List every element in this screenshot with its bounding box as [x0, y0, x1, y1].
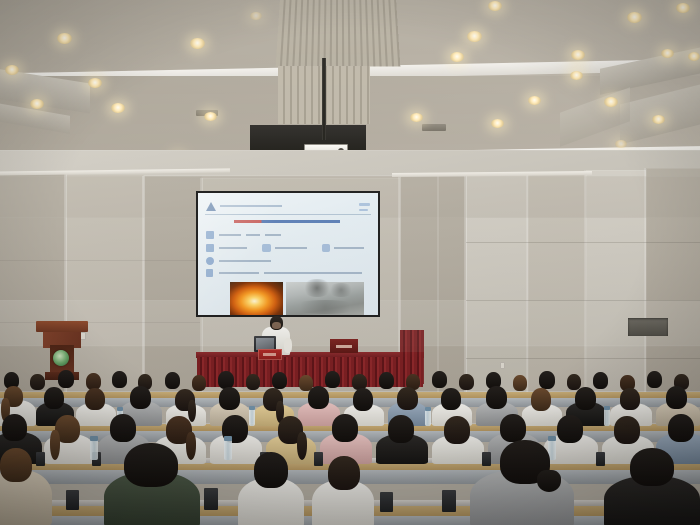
- downlight: [467, 31, 482, 42]
- lecture-hall-photo: [0, 0, 700, 525]
- slide-title: [234, 220, 340, 223]
- audience-bun: [537, 470, 561, 492]
- audience-head: [379, 372, 394, 389]
- audience-head: [397, 387, 418, 410]
- downlight: [250, 12, 262, 20]
- wall-seam-h: [466, 300, 700, 301]
- audience-head: [531, 388, 551, 411]
- seat-arm-foreground: [380, 492, 393, 512]
- water-bottle: [604, 409, 610, 426]
- audience-head: [30, 374, 45, 390]
- wall-seam: [142, 176, 145, 402]
- slide-row-label: [206, 269, 213, 277]
- secondary-card-glow: [336, 345, 352, 348]
- wall-seam: [464, 174, 467, 402]
- audience-head: [254, 452, 288, 488]
- downlight: [450, 52, 464, 62]
- audience-head: [593, 372, 608, 389]
- seat-arm: [314, 452, 323, 466]
- audience-head: [325, 371, 340, 388]
- wall-seam: [644, 168, 646, 402]
- audience-head: [332, 414, 358, 442]
- audience-head-foreground: [124, 443, 178, 487]
- downlight: [30, 99, 44, 109]
- audience-head: [620, 388, 640, 410]
- audience-ponytail: [186, 432, 196, 460]
- bottle-cap: [90, 436, 98, 441]
- podium-emblem: [53, 350, 69, 366]
- seat-arm-foreground: [204, 488, 218, 510]
- audience-head: [44, 387, 64, 409]
- presenter-face: [272, 322, 281, 329]
- bottle-cap: [117, 407, 123, 411]
- audience-head: [557, 415, 583, 443]
- seat-arm-foreground: [442, 490, 456, 512]
- slide-photo-aftermath: [286, 282, 364, 315]
- slide-row-text: [219, 272, 259, 274]
- wall-seam-h: [0, 260, 200, 261]
- downlight: [652, 115, 665, 124]
- audience-head: [328, 456, 360, 490]
- slide-corner-mark: [359, 209, 368, 211]
- water-bottle: [224, 440, 232, 460]
- wall-outlet-plate: [500, 362, 505, 369]
- slide-row-label: [206, 244, 214, 252]
- slide-item-icon: [322, 244, 330, 252]
- bottle-cap: [548, 436, 556, 441]
- smoke-plume: [328, 283, 354, 297]
- audience-head: [432, 371, 447, 388]
- audience-head: [500, 414, 526, 442]
- audience-head: [85, 388, 105, 410]
- audience-head: [192, 375, 206, 391]
- bottle-cap: [224, 436, 232, 441]
- audience-head: [444, 416, 470, 444]
- slide-item-text: [219, 247, 247, 249]
- audience-head: [353, 388, 373, 411]
- downlight: [111, 103, 125, 113]
- downlight: [571, 50, 585, 60]
- audience-head: [575, 387, 596, 410]
- audience-head: [630, 448, 674, 486]
- presentation-slide: [198, 193, 378, 315]
- downlight: [688, 52, 700, 61]
- slide-row-text: [264, 272, 362, 274]
- audience-ponytail: [297, 432, 307, 460]
- bottle-cap: [425, 407, 431, 411]
- audience-head: [666, 386, 687, 409]
- audience-head: [165, 372, 180, 389]
- downlight: [615, 140, 627, 148]
- slide-row-text: [265, 234, 281, 236]
- audience-head: [130, 386, 151, 409]
- audience-head: [513, 375, 527, 391]
- audience-head: [668, 414, 694, 442]
- seat-arm: [596, 452, 605, 466]
- name-card-text: [263, 353, 276, 356]
- audience-head: [308, 386, 329, 409]
- downlight: [488, 1, 502, 11]
- slide-row-bullet: [206, 257, 214, 265]
- audience-head: [647, 371, 662, 388]
- wall-seam: [584, 170, 586, 402]
- ceiling-vent-right: [422, 124, 446, 131]
- downlight: [676, 3, 690, 13]
- audience-head: [388, 415, 414, 443]
- downlight: [604, 97, 618, 107]
- audience-head: [110, 414, 136, 442]
- audience-head: [539, 371, 555, 389]
- downlight: [204, 112, 217, 121]
- downlight: [410, 113, 423, 122]
- downlight: [528, 96, 541, 105]
- downlight: [5, 65, 19, 75]
- downlight: [190, 38, 205, 49]
- downlight: [627, 12, 642, 23]
- water-bottle: [425, 410, 431, 426]
- slide-item-text: [275, 247, 307, 249]
- audience-head: [58, 370, 74, 388]
- audience-head: [459, 374, 474, 390]
- wall-air-grille: [628, 318, 668, 336]
- projection-screen[interactable]: [196, 191, 380, 317]
- slide-row-label: [206, 231, 214, 239]
- audience-head: [219, 387, 240, 410]
- wall-seam-h: [466, 358, 700, 359]
- podium-top: [36, 321, 88, 332]
- downlight: [570, 71, 583, 80]
- audience-head: [2, 414, 27, 441]
- audience-head: [272, 372, 287, 389]
- seat-arm: [36, 452, 45, 466]
- slide-photo-explosion: [230, 282, 283, 315]
- audience-head: [441, 388, 461, 410]
- downlight: [88, 78, 102, 88]
- wall-seam: [526, 172, 528, 402]
- audience-ponytail: [188, 400, 196, 422]
- downlight: [661, 49, 674, 58]
- audience-head: [112, 371, 127, 388]
- downlight: [491, 119, 504, 128]
- slide-header-rule: [205, 214, 371, 215]
- audience-head: [246, 374, 260, 390]
- water-bottle: [90, 440, 98, 460]
- wall-seam-h: [466, 242, 700, 243]
- bottle-cap: [604, 406, 610, 410]
- slide-corner-mark: [359, 203, 370, 206]
- audience-head: [486, 386, 507, 409]
- slide-row-text: [246, 234, 260, 236]
- audience-head: [614, 416, 640, 444]
- wall-seam-h: [0, 322, 200, 323]
- slide-row-text: [219, 234, 241, 236]
- debris-field: [290, 300, 360, 314]
- wall-seam: [437, 176, 439, 402]
- water-bottle: [249, 409, 255, 426]
- slide-org-name: [220, 205, 282, 207]
- slide-item-text: [334, 247, 364, 249]
- slide-logo-icon: [206, 202, 216, 211]
- slide-row-text: [219, 260, 271, 262]
- presenter-arm: [284, 338, 292, 353]
- audience-ponytail: [50, 430, 60, 460]
- seat-arm: [482, 452, 491, 466]
- bottle-cap: [249, 406, 255, 410]
- ceiling-louver-upper: [276, 0, 401, 67]
- audience-head: [0, 448, 32, 482]
- projector-pole: [322, 58, 326, 144]
- slide-item-icon: [262, 244, 271, 252]
- downlight: [57, 33, 72, 44]
- seat-arm-foreground: [66, 490, 79, 510]
